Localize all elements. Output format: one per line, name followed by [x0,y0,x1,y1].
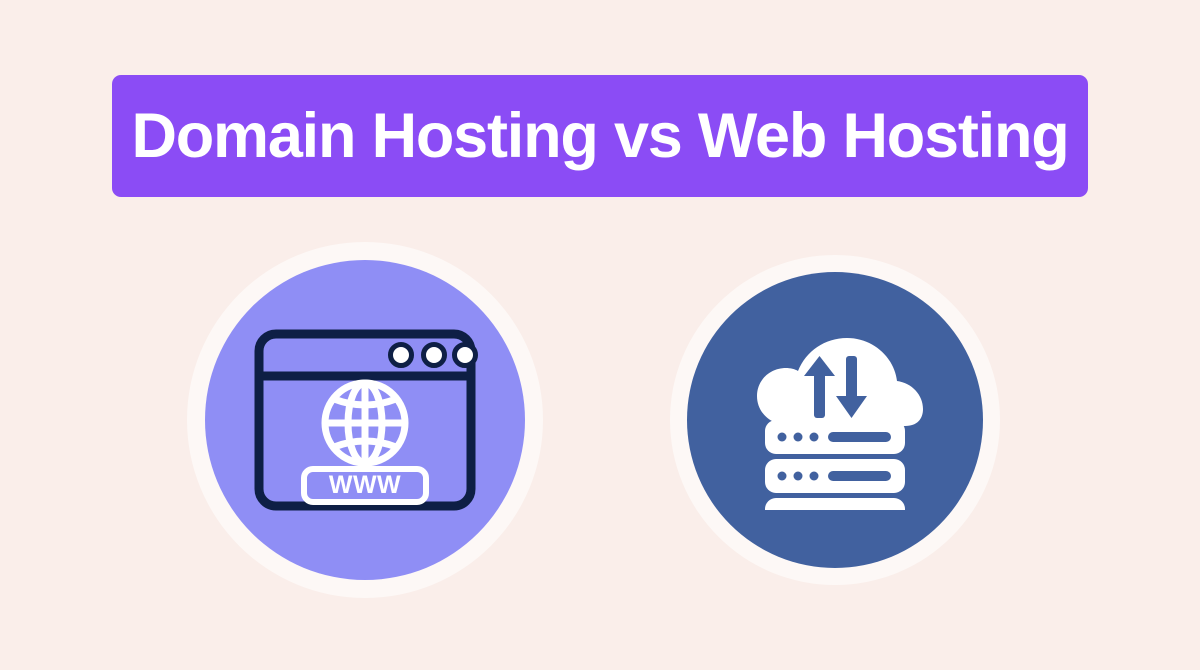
domain-hosting-badge: WWW [187,242,543,598]
window-dot-2 [424,345,445,366]
poster-canvas: Domain Hosting vs Web Hosting [0,0,1200,670]
browser-globe-www-icon: WWW [250,325,480,515]
rack-led-3 [810,472,819,481]
web-hosting-disc [687,272,983,568]
www-label: WWW [329,471,401,499]
cloud-shape [757,338,923,426]
rack-led-2 [794,433,803,442]
cloud-icon [757,338,923,426]
cloud-server-icon [735,330,935,510]
domain-hosting-disc: WWW [205,260,525,580]
rack-led-2 [794,472,803,481]
globe-icon [325,383,405,463]
rack-led-1 [778,433,787,442]
rack-bar [828,432,891,442]
rack-led-1 [778,472,787,481]
web-hosting-badge [670,255,1000,585]
server-rack-1 [765,420,905,454]
title-banner: Domain Hosting vs Web Hosting [112,75,1088,197]
rack-led-3 [810,433,819,442]
server-rack-2 [765,459,905,493]
window-dot-1 [391,345,412,366]
page-title: Domain Hosting vs Web Hosting [131,105,1068,168]
server-rack-3 [765,498,905,510]
rack-bar [828,471,891,481]
window-dot-3 [455,345,476,366]
